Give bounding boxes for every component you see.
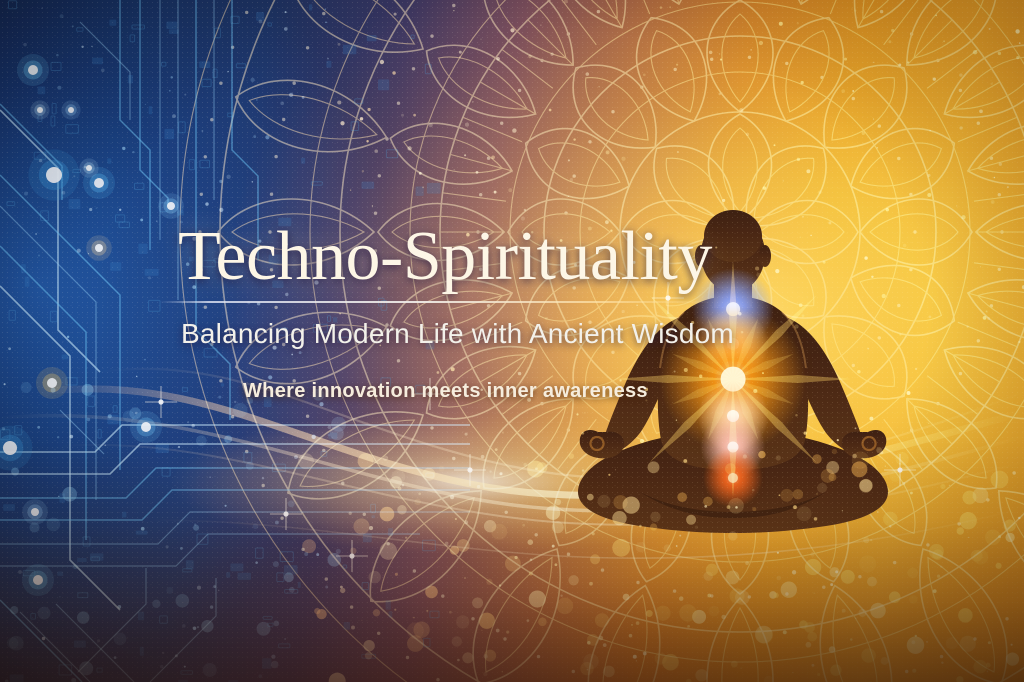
hero-banner: Techno-Spirituality Balancing Modern Lif… [0,0,1024,682]
page-subtitle: Balancing Modern Life with Ancient Wisdo… [181,320,734,348]
title-divider [160,301,710,303]
page-tagline: Where innovation meets inner awareness [243,381,648,401]
page-title: Techno-Spirituality [178,222,712,292]
hero-text-block: Techno-Spirituality Balancing Modern Lif… [0,0,1024,682]
